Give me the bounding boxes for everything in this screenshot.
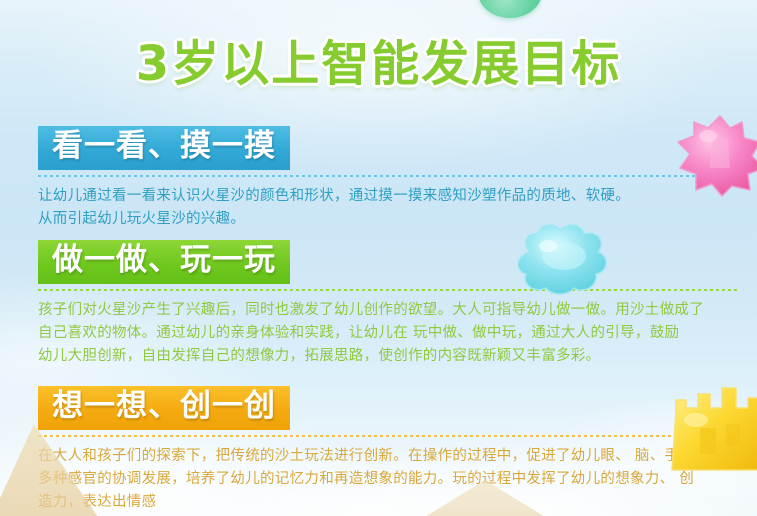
section-think-and-create: 想一想、创一创 在大人和孩子们的探索下，把传统的沙土玩法进行创新。在操作的过程中…: [38, 386, 738, 514]
section-look-and-touch: 看一看、摸一摸 让幼儿通过看一看来认识火星沙的颜色和形状，通过摸一摸来感知沙塑作…: [38, 126, 738, 231]
poster-page: 3岁以上智能发展目标 看一看、摸一摸 让幼儿通过看一看来认识火星沙的颜色和形状，…: [0, 0, 757, 516]
section-heading-think-and-create: 想一想、创一创: [38, 386, 290, 430]
section-body-look-and-touch: 让幼儿通过看一看来认识火星沙的颜色和形状，通过摸一摸来感知沙塑作品的质地、软硬。…: [38, 185, 738, 231]
section-body-think-and-create: 在大人和孩子们的探索下，把传统的沙土玩法进行创新。在操作的过程中，促进了幼儿眼、…: [38, 445, 738, 514]
section-make-and-play: 做一做、玩一玩 孩子们对火星沙产生了兴趣后，同时也激发了幼儿创作的欲望。大人可指…: [38, 240, 738, 368]
blue-sand-mold-toy: [508, 222, 620, 296]
section-heading-look-and-touch: 看一看、摸一摸: [38, 126, 290, 170]
pink-sand-mold-toy: [672, 112, 757, 198]
yellow-castle-sand-mold-toy: [666, 372, 757, 476]
section-divider: [38, 289, 738, 291]
section-heading-make-and-play: 做一做、玩一玩: [38, 240, 290, 284]
page-title: 3岁以上智能发展目标: [0, 24, 757, 94]
section-body-make-and-play: 孩子们对火星沙产生了兴趣后，同时也激发了幼儿创作的欲望。大人可指导幼儿做一做。用…: [38, 299, 738, 368]
section-divider: [38, 175, 738, 177]
section-divider: [38, 435, 738, 437]
green-circle-decoration: [478, 0, 542, 18]
